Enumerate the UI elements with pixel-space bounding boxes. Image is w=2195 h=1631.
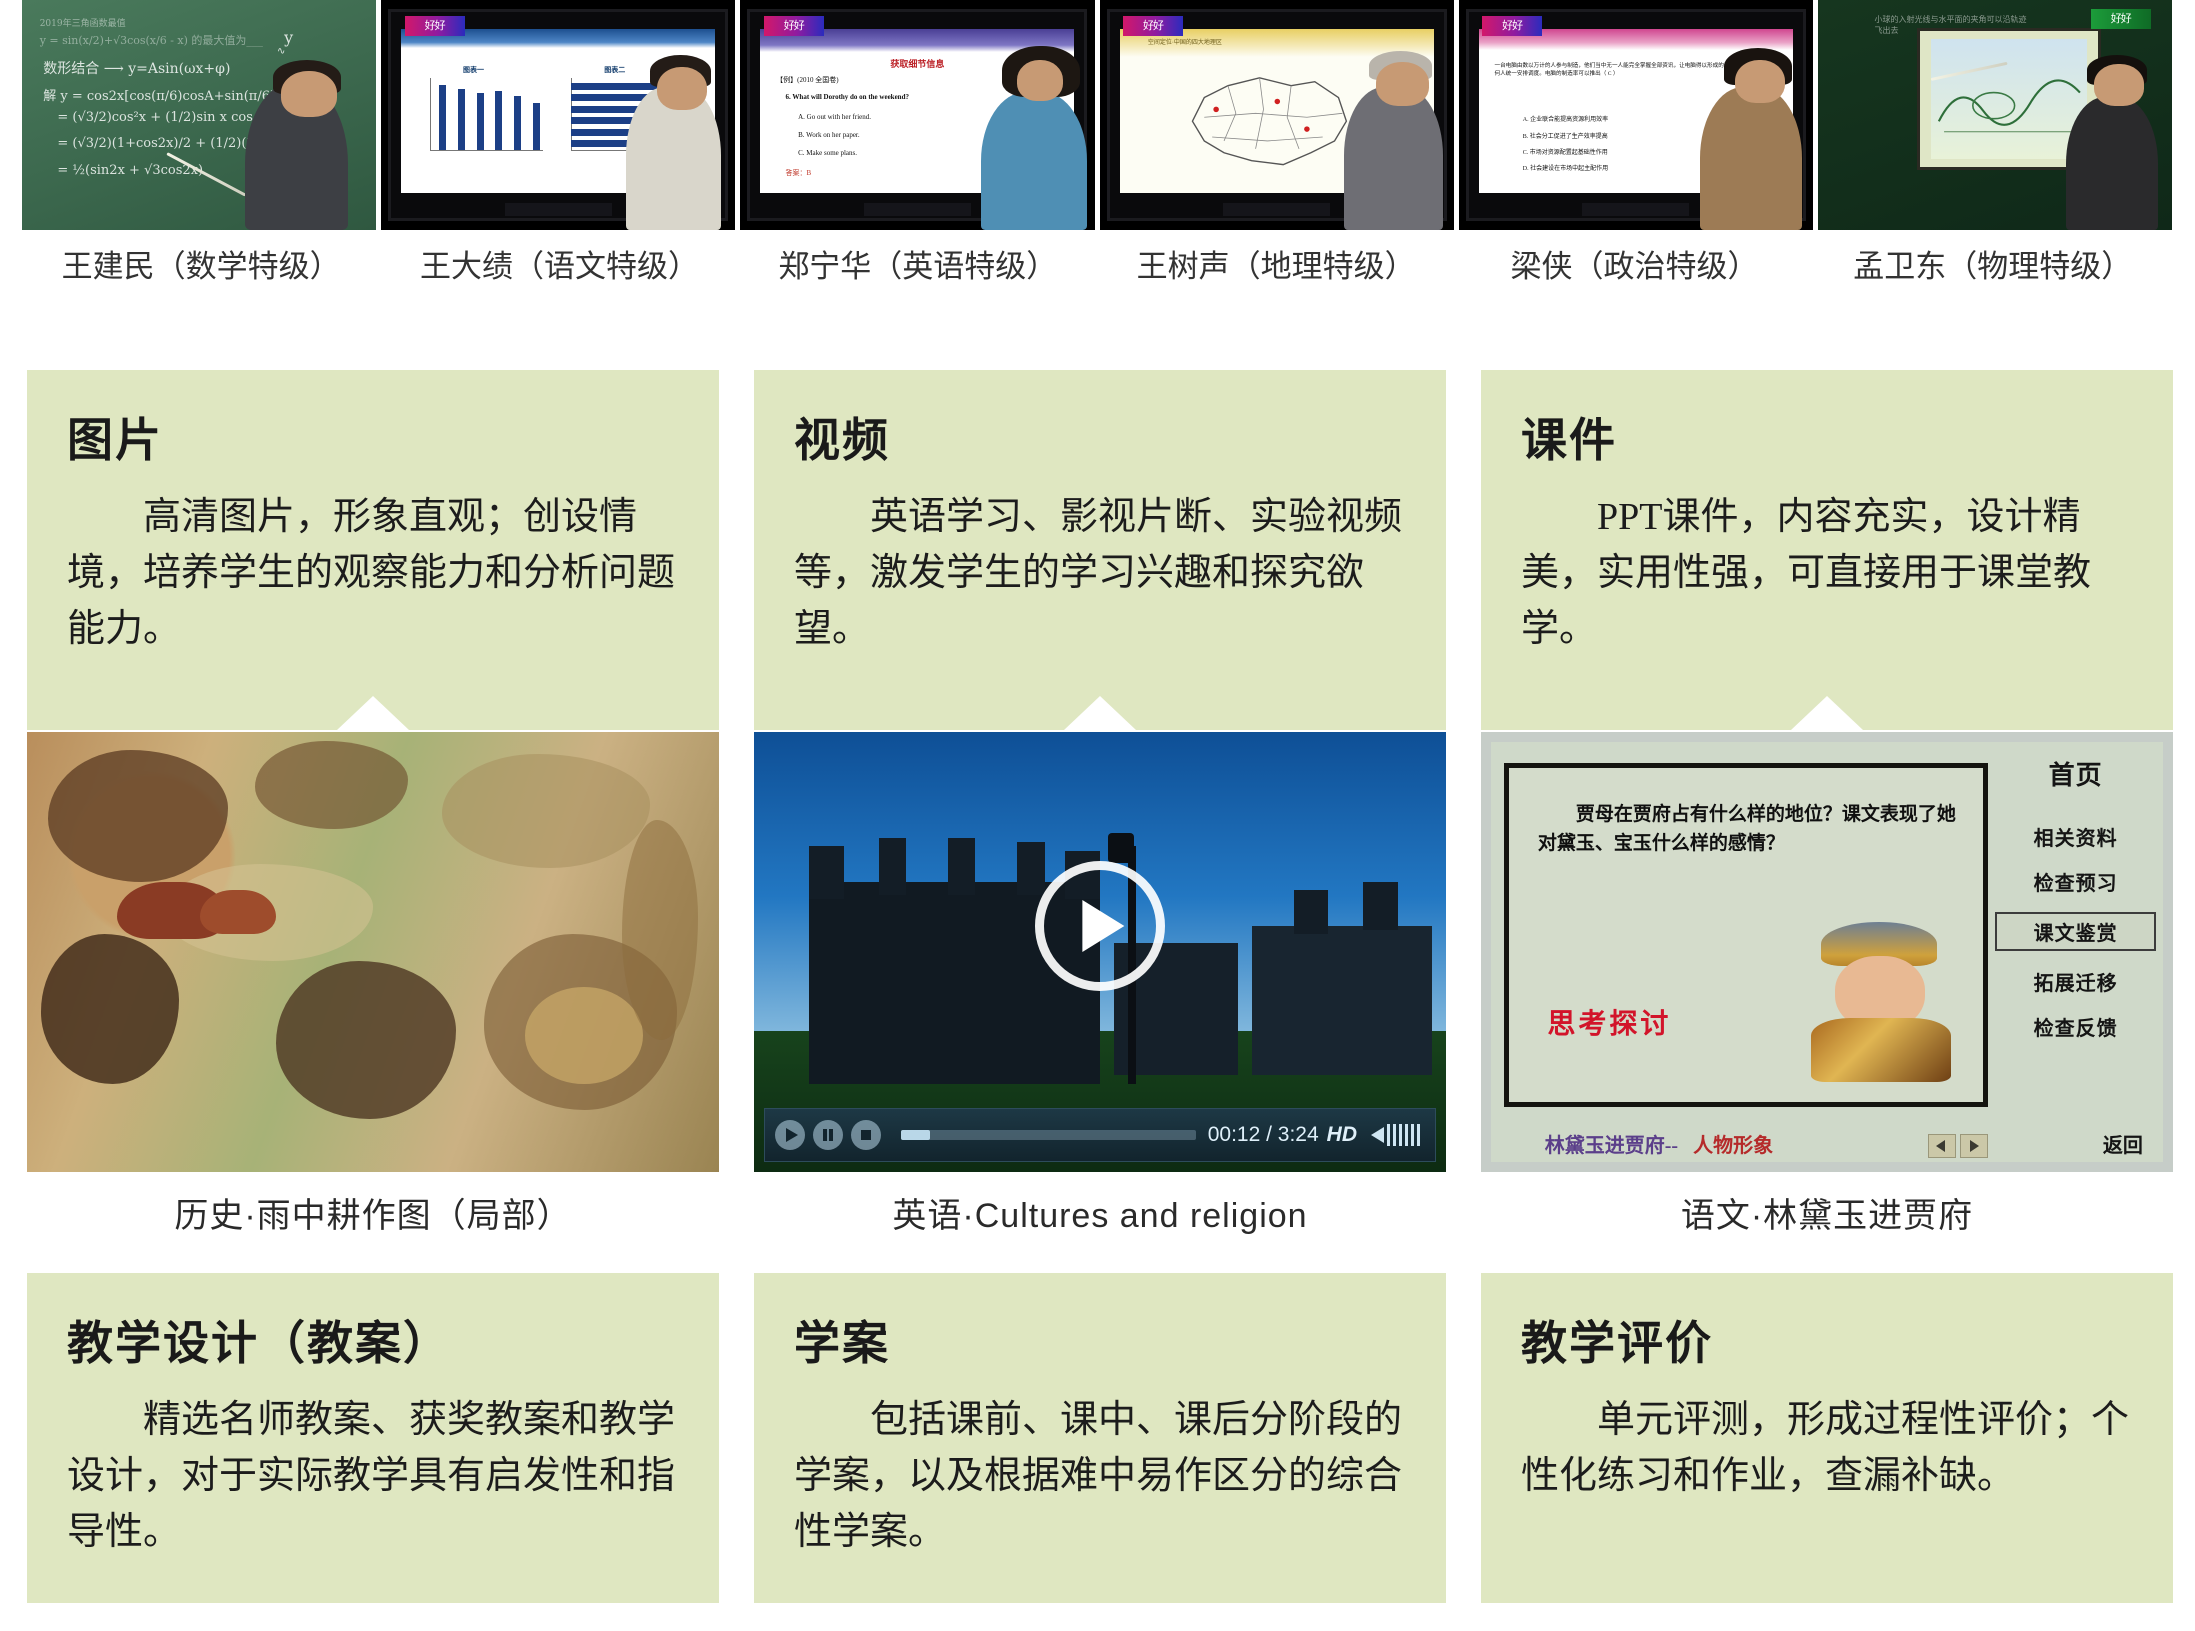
- card-title: 教学设计（教案）: [67, 1307, 679, 1373]
- ppt-menu-item-4[interactable]: 检查反馈: [1995, 1012, 2156, 1041]
- teacher-name-1: 王大绩（语文特级）: [380, 236, 738, 298]
- slide-answer: 答案：B: [786, 168, 812, 178]
- media-caption: 历史·雨中耕作图（局部）: [27, 1188, 719, 1237]
- resource-grid: 图片 高清图片，形象直观；创设情境，培养学生的观察能力和分析问题能力。: [27, 370, 2173, 1603]
- card-notch-icon: [1791, 696, 1863, 730]
- resource-column-study-plan: 学案 包括课前、课中、课后分阶段的学案，以及根据难中易作区分的综合性学案。: [754, 1273, 1446, 1603]
- slide-option-b: B. 社会分工促进了生产效率提高: [1523, 131, 1608, 140]
- teacher-filmstrip: 2019年三角函数最值 y = sin(x/2)+√3cos(x/6 - x) …: [22, 0, 2172, 230]
- card-body: 英语学习、影视片断、实验视频等，激发学生的学习兴趣和探究欲望。: [794, 490, 1406, 658]
- ppt-footer-subtitle: 人物形象: [1693, 1135, 1773, 1157]
- ppt-back-button[interactable]: 返回: [2103, 1129, 2143, 1158]
- slide-option-c: C. 市场对资源配置起基础性作用: [1523, 147, 1608, 156]
- media-video-english[interactable]: 00:12 / 3:24 HD: [754, 732, 1446, 1172]
- teacher-thumb-physics[interactable]: 好好 小球的入射光线与水平面的夹角可以沿轨迹飞出去: [1818, 0, 2172, 230]
- slide-option-b: B. Work on her paper.: [798, 131, 860, 139]
- ppt-menu-item-2[interactable]: 课文鉴赏: [1995, 912, 2156, 951]
- card-courseware[interactable]: 课件 PPT课件，内容充实，设计精美，实用性强，可直接用于课堂教学。: [1481, 370, 2173, 730]
- ppt-pager[interactable]: [1928, 1134, 1988, 1158]
- slide-option-a: A. Go out with her friend.: [798, 113, 871, 121]
- progress-bar[interactable]: [901, 1130, 1196, 1140]
- card-images[interactable]: 图片 高清图片，形象直观；创设情境，培养学生的观察能力和分析问题能力。: [27, 370, 719, 730]
- character-illustration: [1805, 922, 1955, 1082]
- ppt-menu-home[interactable]: 首页: [1995, 755, 2156, 792]
- play-icon[interactable]: [775, 1120, 805, 1150]
- ppt-footer: 林黛玉进贾府-- 人物形象: [1545, 1129, 1773, 1158]
- teacher-name-3: 王树声（地理特级）: [1097, 236, 1455, 298]
- teacher-name-row: 王建民（数学特级） 王大绩（语文特级） 郑宁华（英语特级） 王树声（地理特级） …: [22, 236, 2172, 298]
- card-row-bottom: 教学设计（教案） 精选名师教案、获奖教案和教学设计，对于实际教学具有启发性和指导…: [27, 1273, 2173, 1603]
- card-title: 课件: [1521, 404, 2133, 470]
- next-slide-icon[interactable]: [1960, 1134, 1988, 1158]
- card-title: 视频: [794, 404, 1406, 470]
- play-overlay-button[interactable]: [1035, 861, 1165, 991]
- card-title: 教学评价: [1521, 1307, 2133, 1373]
- teacher-thumb-math[interactable]: 2019年三角函数最值 y = sin(x/2)+√3cos(x/6 - x) …: [22, 0, 376, 230]
- channel-logo-icon: 好好: [764, 16, 824, 36]
- quality-badge[interactable]: HD: [1327, 1123, 1357, 1147]
- ppt-nav-menu: 首页 相关资料 检查预习 课文鉴赏 拓展迁移 检查反馈: [1995, 755, 2156, 1150]
- card-lesson-plan[interactable]: 教学设计（教案） 精选名师教案、获奖教案和教学设计，对于实际教学具有启发性和指导…: [27, 1273, 719, 1603]
- wave-diagram-icon: [1931, 39, 2088, 159]
- card-evaluation[interactable]: 教学评价 单元评测，形成过程性评价；个性化练习和作业，查漏补缺。: [1481, 1273, 2173, 1603]
- resource-column-courseware: 课件 PPT课件，内容充实，设计精美，实用性强，可直接用于课堂教学。 贾母在贾府…: [1481, 370, 2173, 1237]
- media-caption: 语文·林黛玉进贾府: [1481, 1188, 2173, 1237]
- ppt-menu-item-1[interactable]: 检查预习: [1995, 867, 2156, 896]
- slide-source: 【例】(2010 全国卷): [776, 75, 838, 85]
- slide-option-d: D. 社会建设在市场中起主配作用: [1523, 163, 1608, 172]
- card-title: 学案: [794, 1307, 1406, 1373]
- ppt-question: 贾母在贾府占有什么样的地位？课文表现了她对黛玉、宝玉什么样的感情？: [1538, 801, 1964, 858]
- channel-logo-icon: 好好: [1123, 16, 1183, 36]
- slide-option-a: A. 企业联合能提高资源利用效率: [1523, 114, 1608, 123]
- teacher-thumb-english[interactable]: 好好 获取细节信息 【例】(2010 全国卷) 6. What will Dor…: [740, 0, 1094, 230]
- teacher-thumb-chinese[interactable]: 好好 图表一 图表二: [381, 0, 735, 230]
- card-video[interactable]: 视频 英语学习、影视片断、实验视频等，激发学生的学习兴趣和探究欲望。: [754, 370, 1446, 730]
- card-notch-icon: [337, 696, 409, 730]
- teacher-name-0: 王建民（数学特级）: [22, 236, 380, 298]
- card-body: 包括课前、课中、课后分阶段的学案，以及根据难中易作区分的综合性学案。: [794, 1393, 1406, 1561]
- card-row-top: 图片 高清图片，形象直观；创设情境，培养学生的观察能力和分析问题能力。: [27, 370, 2173, 1237]
- stop-icon[interactable]: [851, 1120, 881, 1150]
- resource-column-video: 视频 英语学习、影视片断、实验视频等，激发学生的学习兴趣和探究欲望。: [754, 370, 1446, 1237]
- channel-logo-icon: 好好: [1482, 16, 1542, 36]
- card-title: 图片: [67, 404, 679, 470]
- time-display: 00:12 / 3:24: [1208, 1123, 1319, 1147]
- channel-logo-icon: 好好: [2091, 9, 2151, 29]
- teacher-thumb-geography[interactable]: 好好 空间定位·中国的四大地理区: [1100, 0, 1454, 230]
- media-image-history[interactable]: [27, 732, 719, 1172]
- video-controls[interactable]: 00:12 / 3:24 HD: [764, 1108, 1436, 1162]
- card-notch-icon: [1064, 696, 1136, 730]
- resource-column-lesson-plan: 教学设计（教案） 精选名师教案、获奖教案和教学设计，对于实际教学具有启发性和指导…: [27, 1273, 719, 1603]
- slide-question: 6. What will Dorothy do on the weekend?: [786, 93, 909, 101]
- teacher-name-2: 郑宁华（英语特级）: [739, 236, 1097, 298]
- prev-slide-icon[interactable]: [1928, 1134, 1956, 1158]
- card-study-plan[interactable]: 学案 包括课前、课中、课后分阶段的学案，以及根据难中易作区分的综合性学案。: [754, 1273, 1446, 1603]
- card-body: PPT课件，内容充实，设计精美，实用性强，可直接用于课堂教学。: [1521, 490, 2133, 658]
- ppt-highlight: 思考探讨: [1547, 1002, 1671, 1042]
- teacher-name-5: 孟卫东（物理特级）: [1814, 236, 2172, 298]
- card-body: 单元评测，形成过程性评价；个性化练习和作业，查漏补缺。: [1521, 1393, 2133, 1505]
- pause-icon[interactable]: [813, 1120, 843, 1150]
- ppt-menu-item-3[interactable]: 拓展迁移: [1995, 967, 2156, 996]
- card-body: 精选名师教案、获奖教案和教学设计，对于实际教学具有启发性和指导性。: [67, 1393, 679, 1561]
- resource-column-evaluation: 教学评价 单元评测，形成过程性评价；个性化练习和作业，查漏补缺。: [1481, 1273, 2173, 1603]
- page-root: 2019年三角函数最值 y = sin(x/2)+√3cos(x/6 - x) …: [0, 0, 2195, 1631]
- volume-icon[interactable]: [1371, 1120, 1425, 1150]
- slide-option-c: C. Make some plans.: [798, 149, 857, 157]
- media-courseware-chinese[interactable]: 贾母在贾府占有什么样的地位？课文表现了她对黛玉、宝玉什么样的感情？ 思考探讨 首…: [1481, 732, 2173, 1172]
- blackboard: 2019年三角函数最值 y = sin(x/2)+√3cos(x/6 - x) …: [22, 0, 376, 230]
- ppt-menu-item-0[interactable]: 相关资料: [1995, 822, 2156, 851]
- teacher-name-4: 梁侠（政治特级）: [1455, 236, 1813, 298]
- teacher-thumb-politics[interactable]: 好好 一台电脑由数以万计的人参与制造，他们当中无一人能完全掌握全部资讯，让电脑得…: [1459, 0, 1813, 230]
- ppt-footer-title: 林黛玉进贾府--: [1545, 1135, 1678, 1157]
- ppt-slide-body: 贾母在贾府占有什么样的地位？课文表现了她对黛玉、宝玉什么样的感情？ 思考探讨: [1504, 763, 1988, 1107]
- resource-column-images: 图片 高清图片，形象直观；创设情境，培养学生的观察能力和分析问题能力。: [27, 370, 719, 1237]
- channel-logo-icon: 好好: [405, 16, 465, 36]
- media-caption: 英语·Cultures and religion: [754, 1188, 1446, 1237]
- card-body: 高清图片，形象直观；创设情境，培养学生的观察能力和分析问题能力。: [67, 490, 679, 658]
